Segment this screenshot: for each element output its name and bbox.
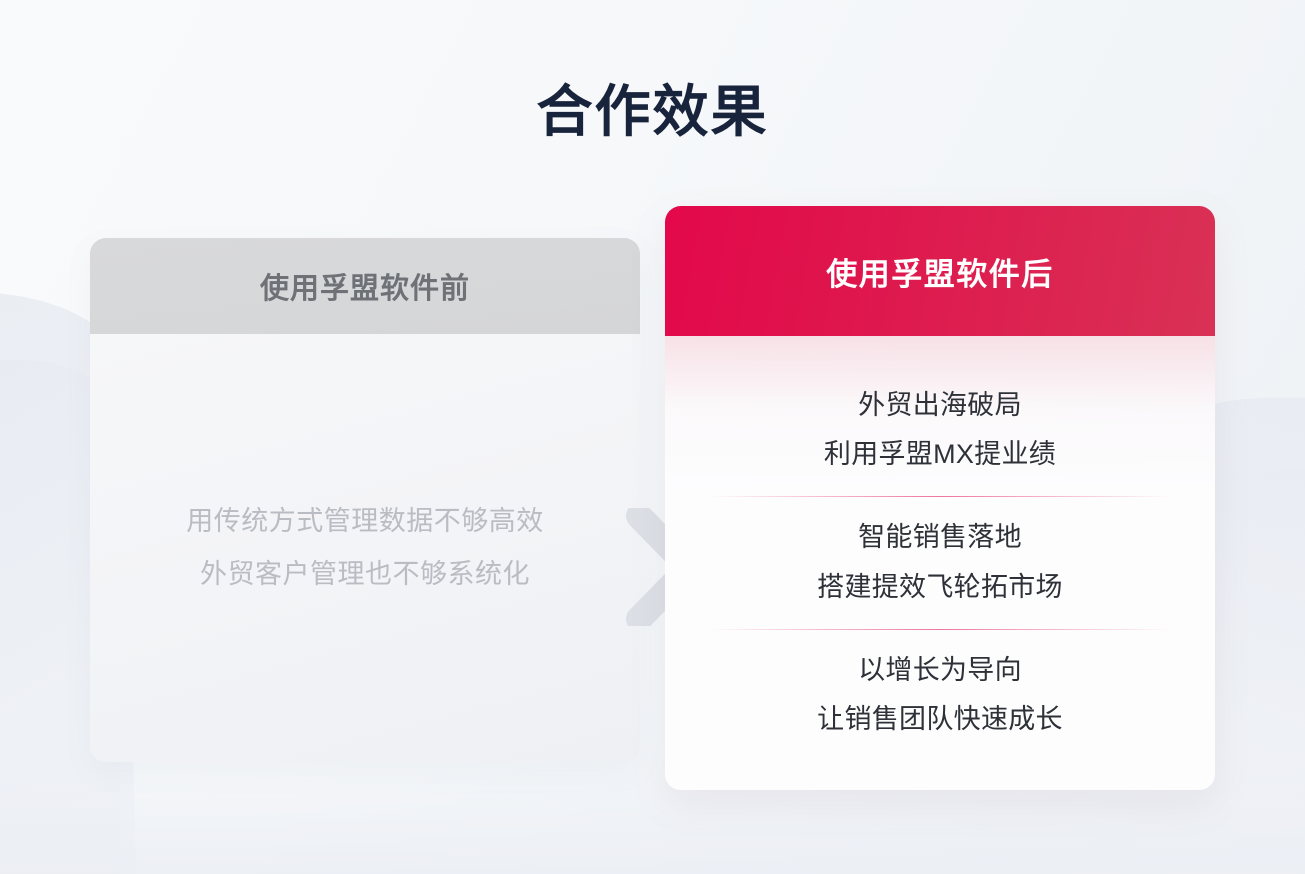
after-benefit-3-line-2: 让销售团队快速成长 [817,695,1063,744]
page-title: 合作效果 [0,78,1305,145]
before-card-header-label: 使用孚盟软件前 [260,265,470,307]
after-benefit-block-2: 智能销售落地 搭建提效飞轮拓市场 [701,497,1179,628]
after-card: 使用孚盟软件后 外贸出海破局 利用孚盟MX提业绩 智能销售落地 搭建提效飞轮拓市… [665,206,1215,790]
after-card-header: 使用孚盟软件后 [665,206,1215,336]
before-card-body: 用传统方式管理数据不够高效 外贸客户管理也不够系统化 [90,334,640,762]
before-text-line-1: 用传统方式管理数据不够高效 [186,495,544,548]
after-benefit-3-line-1: 以增长为导向 [858,646,1022,695]
after-card-body: 外贸出海破局 利用孚盟MX提业绩 智能销售落地 搭建提效飞轮拓市场 以增长为导向… [665,336,1215,790]
after-benefit-block-1: 外贸出海破局 利用孚盟MX提业绩 [701,365,1179,496]
before-card: 使用孚盟软件前 用传统方式管理数据不够高效 外贸客户管理也不够系统化 [90,238,640,762]
after-card-header-label: 使用孚盟软件后 [826,249,1054,294]
after-benefit-1-line-1: 外贸出海破局 [858,381,1022,430]
after-benefit-2-line-2: 搭建提效飞轮拓市场 [817,563,1063,612]
after-benefit-2-line-1: 智能销售落地 [858,513,1022,562]
after-benefit-1-line-2: 利用孚盟MX提业绩 [824,430,1056,479]
slide-canvas: 合作效果 使用孚盟软件前 用传统方式管理数据不够高效 外贸客户管理也不够系统化 … [0,0,1305,874]
before-text-line-2: 外贸客户管理也不够系统化 [200,548,530,601]
after-benefit-block-3: 以增长为导向 让销售团队快速成长 [701,630,1179,761]
before-card-header: 使用孚盟软件前 [90,238,640,334]
